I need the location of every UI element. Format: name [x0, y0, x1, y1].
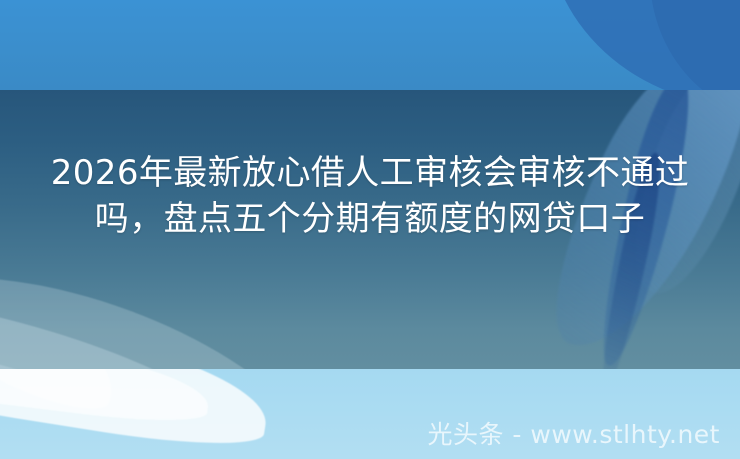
cover-title: 2026年最新放心借人工审核会审核不通过吗，盘点五个分期有额度的网贷口子	[30, 150, 710, 242]
article-cover-image: 2026年最新放心借人工审核会审核不通过吗，盘点五个分期有额度的网贷口子 光头条…	[0, 0, 740, 459]
background-band-top	[0, 0, 740, 90]
site-watermark: 光头条 - www.stlhty.net	[427, 420, 720, 450]
